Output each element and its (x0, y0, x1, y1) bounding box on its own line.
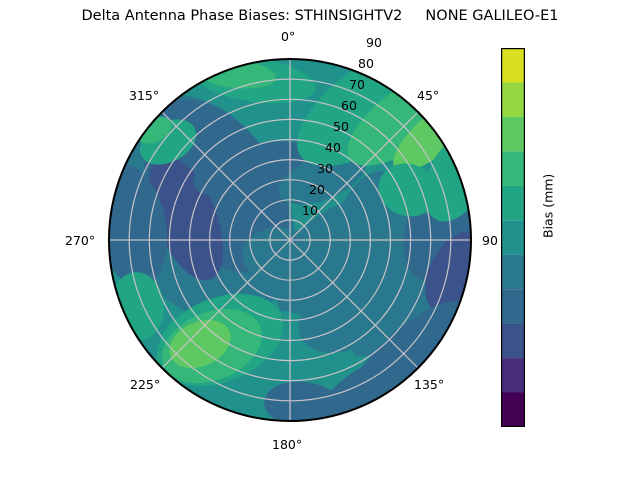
angular-tick-90: 90 (482, 233, 498, 248)
radial-tick-40: 40 (325, 140, 341, 155)
angular-tick-45: 45° (417, 88, 439, 103)
angular-tick-225: 225° (130, 377, 160, 392)
polar-grid (109, 59, 471, 421)
radial-tick-50: 50 (333, 119, 349, 134)
angular-tick-135: 135° (414, 377, 444, 392)
colorbar-bands (501, 48, 525, 427)
polar-axes[interactable]: 10 20 30 40 50 60 70 80 90 (108, 58, 472, 422)
radial-tick-90: 90 (366, 35, 382, 50)
radial-tick-10: 10 (302, 203, 318, 218)
angular-tick-270: 270° (65, 233, 95, 248)
radial-tick-70: 70 (349, 77, 365, 92)
radial-tick-80: 80 (358, 56, 374, 71)
polar-contour-plot[interactable] (108, 58, 472, 422)
colorbar-gradient[interactable] (501, 48, 525, 427)
page-title: Delta Antenna Phase Biases: STHINSIGHTV2… (0, 8, 640, 24)
radial-tick-60: 60 (341, 98, 357, 113)
angular-tick-315: 315° (129, 88, 159, 103)
colorbar-axis-label: Bias (mm) (541, 174, 556, 238)
angular-tick-0: 0° (281, 29, 295, 44)
radial-tick-30: 30 (317, 161, 333, 176)
angular-tick-180: 180° (272, 437, 302, 452)
figure-canvas: Delta Antenna Phase Biases: STHINSIGHTV2… (0, 0, 640, 480)
radial-tick-20: 20 (309, 182, 325, 197)
colorbar[interactable]: 4 2 0 −2 −4 (501, 48, 525, 427)
